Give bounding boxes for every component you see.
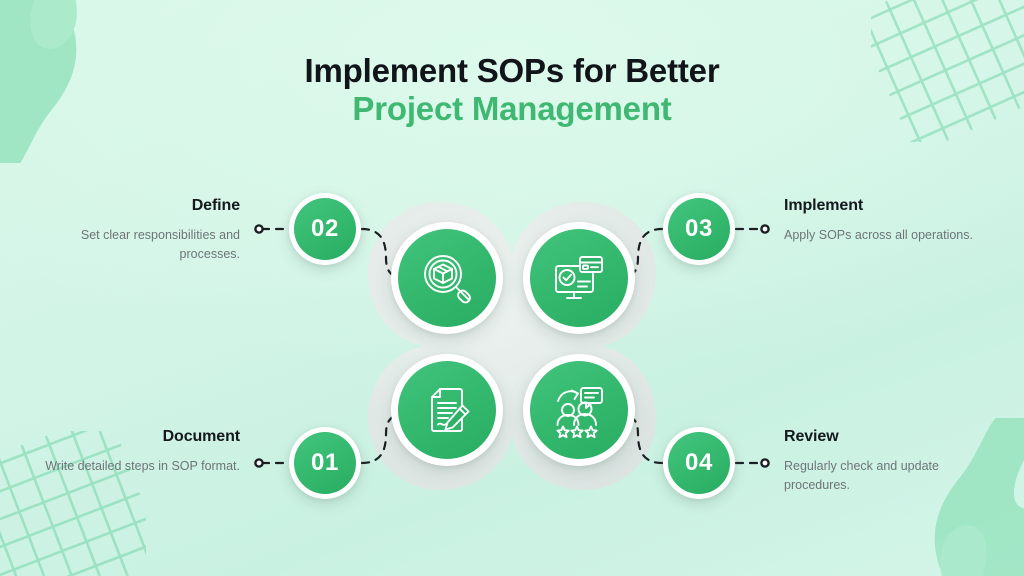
step-badge-03[interactable]: 03 bbox=[663, 193, 735, 265]
magnifier-box-icon bbox=[418, 249, 476, 307]
step-text-document: Document Write detailed steps in SOP for… bbox=[30, 428, 240, 476]
step-badge-04[interactable]: 04 bbox=[663, 427, 735, 499]
icon-circle-review[interactable] bbox=[523, 354, 635, 466]
step-badge-02[interactable]: 02 bbox=[289, 193, 361, 265]
step-badge-03-number: 03 bbox=[668, 198, 730, 260]
step-text-review: Review Regularly check and update proced… bbox=[784, 428, 994, 496]
step-text-define: Define Set clear responsibilities and pr… bbox=[30, 197, 240, 265]
icon-circle-document[interactable] bbox=[391, 354, 503, 466]
connector-dot bbox=[255, 225, 262, 232]
step-description-define: Set clear responsibilities and processes… bbox=[30, 226, 240, 265]
step-title-define: Define bbox=[30, 197, 240, 215]
step-badge-01-number: 01 bbox=[294, 432, 356, 494]
connector-dot bbox=[761, 459, 768, 466]
step-description-implement: Apply SOPs across all operations. bbox=[784, 226, 994, 245]
title-line-2: Project Management bbox=[0, 90, 1024, 128]
step-badge-02-number: 02 bbox=[294, 198, 356, 260]
people-feedback-stars-icon bbox=[550, 381, 608, 439]
icon-circle-implement[interactable] bbox=[523, 222, 635, 334]
connector-dot bbox=[761, 225, 768, 232]
step-title-review: Review bbox=[784, 428, 994, 446]
icon-circle-define[interactable] bbox=[391, 222, 503, 334]
connector-dot bbox=[255, 459, 262, 466]
step-title-implement: Implement bbox=[784, 197, 994, 215]
page-title: Implement SOPs for Better Project Manage… bbox=[0, 52, 1024, 129]
step-description-document: Write detailed steps in SOP format. bbox=[30, 457, 240, 476]
title-line-1: Implement SOPs for Better bbox=[0, 52, 1024, 90]
step-badge-01[interactable]: 01 bbox=[289, 427, 361, 499]
step-title-document: Document bbox=[30, 428, 240, 446]
step-badge-04-number: 04 bbox=[668, 432, 730, 494]
step-text-implement: Implement Apply SOPs across all operatio… bbox=[784, 197, 994, 245]
infographic-canvas: Implement SOPs for Better Project Manage… bbox=[0, 0, 1024, 576]
step-description-review: Regularly check and update procedures. bbox=[784, 457, 994, 496]
document-pencil-icon bbox=[418, 381, 476, 439]
monitor-check-card-icon bbox=[550, 249, 608, 307]
